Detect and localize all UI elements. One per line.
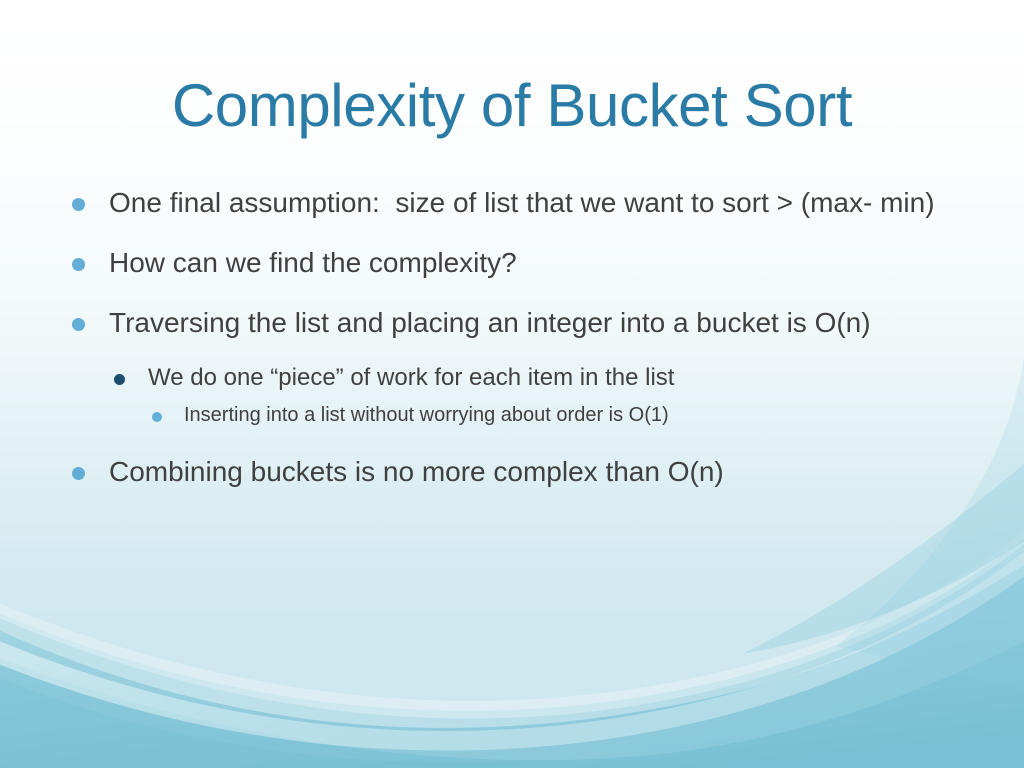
bullet-item-level1: How can we find the complexity? xyxy=(58,244,988,282)
bullet-dot-icon xyxy=(72,258,85,271)
bullet-text: One final assumption: size of list that … xyxy=(109,184,957,222)
bullet-item-level2: We do one “piece” of work for each item … xyxy=(58,362,988,394)
bullet-text: How can we find the complexity? xyxy=(109,244,957,282)
slide-title: Complexity of Bucket Sort xyxy=(0,72,1024,139)
bullet-item-level1: Combining buckets is no more complex tha… xyxy=(58,453,988,491)
bullet-dot-icon xyxy=(72,198,85,211)
bullet-text: Inserting into a list without worrying a… xyxy=(184,402,988,429)
presentation-slide: Complexity of Bucket Sort One final assu… xyxy=(0,0,1024,768)
bullet-dot-icon xyxy=(152,412,162,422)
bullet-text: Combining buckets is no more complex tha… xyxy=(109,453,957,491)
content-placeholder: One final assumption: size of list that … xyxy=(58,184,988,513)
bullet-dot-icon xyxy=(72,318,85,331)
title-placeholder: Complexity of Bucket Sort xyxy=(0,72,1024,139)
bullet-text: We do one “piece” of work for each item … xyxy=(148,362,988,394)
bullet-item-level3: Inserting into a list without worrying a… xyxy=(58,402,988,429)
bullet-text: Traversing the list and placing an integ… xyxy=(109,304,957,342)
bullet-dot-icon xyxy=(114,374,125,385)
bullet-dot-icon xyxy=(72,467,85,480)
bullet-item-level1: Traversing the list and placing an integ… xyxy=(58,304,988,342)
bullet-item-level1: One final assumption: size of list that … xyxy=(58,184,988,222)
